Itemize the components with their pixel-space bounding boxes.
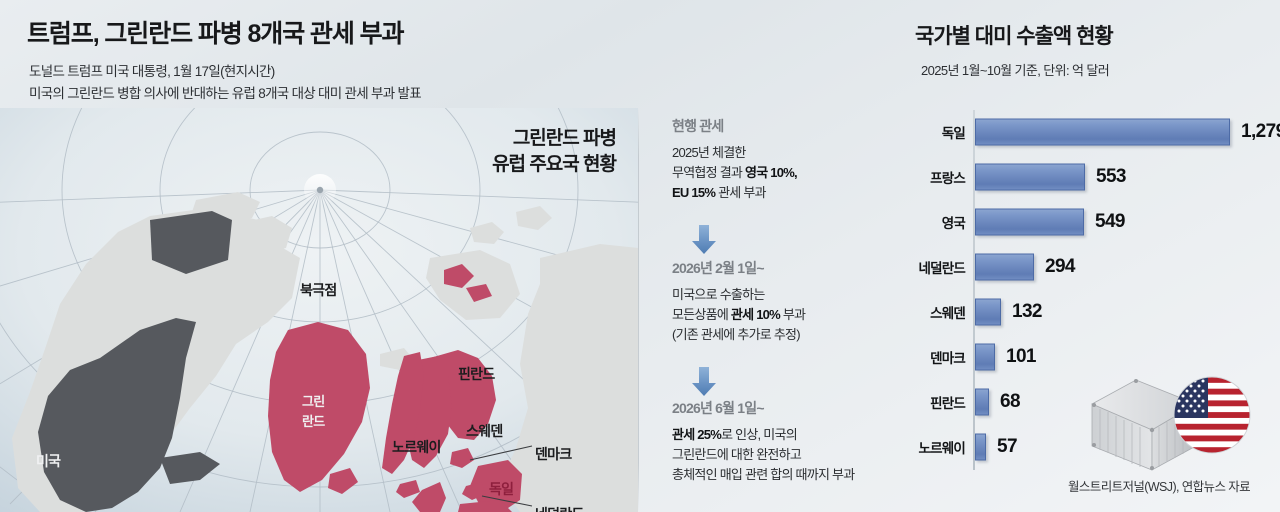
chart-value-label: 549 <box>1095 211 1125 233</box>
chart-bar-fill <box>975 389 989 416</box>
chart-row: 스웨덴132 <box>890 290 1280 334</box>
chart-category-label: 덴마크 <box>825 347 965 367</box>
chart-category-label: 스웨덴 <box>825 302 965 322</box>
chart-category-label: 영국 <box>825 212 965 232</box>
chart-bar[interactable] <box>975 344 995 371</box>
north-pole-marker <box>317 187 323 193</box>
chart-category-label: 네덜란드 <box>825 257 965 277</box>
chart-bar[interactable] <box>975 209 1084 236</box>
chart-value-label: 294 <box>1045 256 1075 278</box>
chart-value-label: 57 <box>997 436 1017 458</box>
chart-bar-fill <box>975 254 1034 281</box>
chart-row: 네덜란드294 <box>890 245 1280 289</box>
map-label-5: 스웨덴 <box>466 421 503 441</box>
map-label-3: 란드 <box>302 411 325 430</box>
map-label-7: 덴마크 <box>535 444 572 464</box>
arctic-map-panel: 그린란드 파병 유럽 주요국 현황 북극점미국그린란드핀란드스웨덴노르웨이덴마크… <box>0 108 638 512</box>
chart-bar[interactable] <box>975 299 1001 326</box>
chart-value-label: 553 <box>1096 166 1126 188</box>
chart-row: 영국549 <box>890 200 1280 244</box>
container-flag-graphic <box>1088 358 1258 483</box>
chart-bar[interactable] <box>975 164 1085 191</box>
map-label-2: 그린 <box>302 391 325 410</box>
map-label-6: 노르웨이 <box>392 437 441 457</box>
map-label-0: 북극점 <box>300 280 337 300</box>
map-label-8: 독일 <box>489 479 513 499</box>
chart-value-label: 68 <box>1000 391 1020 413</box>
chart-value-label: 101 <box>1006 346 1036 368</box>
chart-bar[interactable] <box>975 389 989 416</box>
chart-bar-fill <box>975 434 986 461</box>
map-label-1: 미국 <box>36 451 60 471</box>
map-label-4: 핀란드 <box>458 364 495 384</box>
timeline-line: 2025년 체결한 <box>672 143 880 163</box>
chart-row: 독일1,279 <box>890 110 1280 154</box>
chart-bar[interactable] <box>975 119 1230 146</box>
map-title-line-1: 그린란드 파병 <box>492 126 616 152</box>
chart-category-label: 노르웨이 <box>825 437 965 457</box>
page-title: 트럼프, 그린란드 파병 8개국 관세 부과 <box>27 14 403 50</box>
chart-bar-fill <box>975 299 1001 326</box>
chart-category-label: 핀란드 <box>825 392 965 412</box>
timeline-line: (기존 관세에 추가로 추정) <box>672 325 880 345</box>
chart-value-label: 132 <box>1012 301 1042 323</box>
chart-subtitle: 2025년 1월~10월 기준, 단위: 억 달러 <box>921 60 1109 79</box>
chart-bar[interactable] <box>975 434 986 461</box>
chart-bar-fill <box>975 119 1230 146</box>
subtitle-line-2: 미국의 그린란드 병합 의사에 반대하는 유럽 8개국 대상 대미 관세 부과 … <box>29 82 421 102</box>
chart-value-label: 1,279 <box>1241 121 1280 143</box>
chart-category-label: 프랑스 <box>825 167 965 187</box>
chart-row: 프랑스553 <box>890 155 1280 199</box>
timeline-line: 총체적인 매입 관련 합의 때까지 부과 <box>672 465 880 485</box>
map-label-9: 네덜란드 <box>535 504 584 512</box>
source-note: 월스트리트저널(WSJ), 연합뉴스 자료 <box>1068 476 1250 495</box>
chart-title: 국가별 대미 수출액 현황 <box>915 20 1113 50</box>
chart-category-label: 독일 <box>825 122 965 142</box>
map-title-line-2: 유럽 주요국 현황 <box>492 152 616 178</box>
subtitle-line-1: 도널드 트럼프 미국 대통령, 1월 17일(현지시간) <box>29 60 275 80</box>
chart-bar-fill <box>975 344 995 371</box>
infographic-root: 트럼프, 그린란드 파병 8개국 관세 부과 도널드 트럼프 미국 대통령, 1… <box>0 0 1280 512</box>
chart-bar-fill <box>975 164 1085 191</box>
panel-divider <box>638 108 639 512</box>
chart-bar-fill <box>975 209 1084 236</box>
map-title: 그린란드 파병 유럽 주요국 현황 <box>492 126 616 178</box>
chart-bar[interactable] <box>975 254 1034 281</box>
